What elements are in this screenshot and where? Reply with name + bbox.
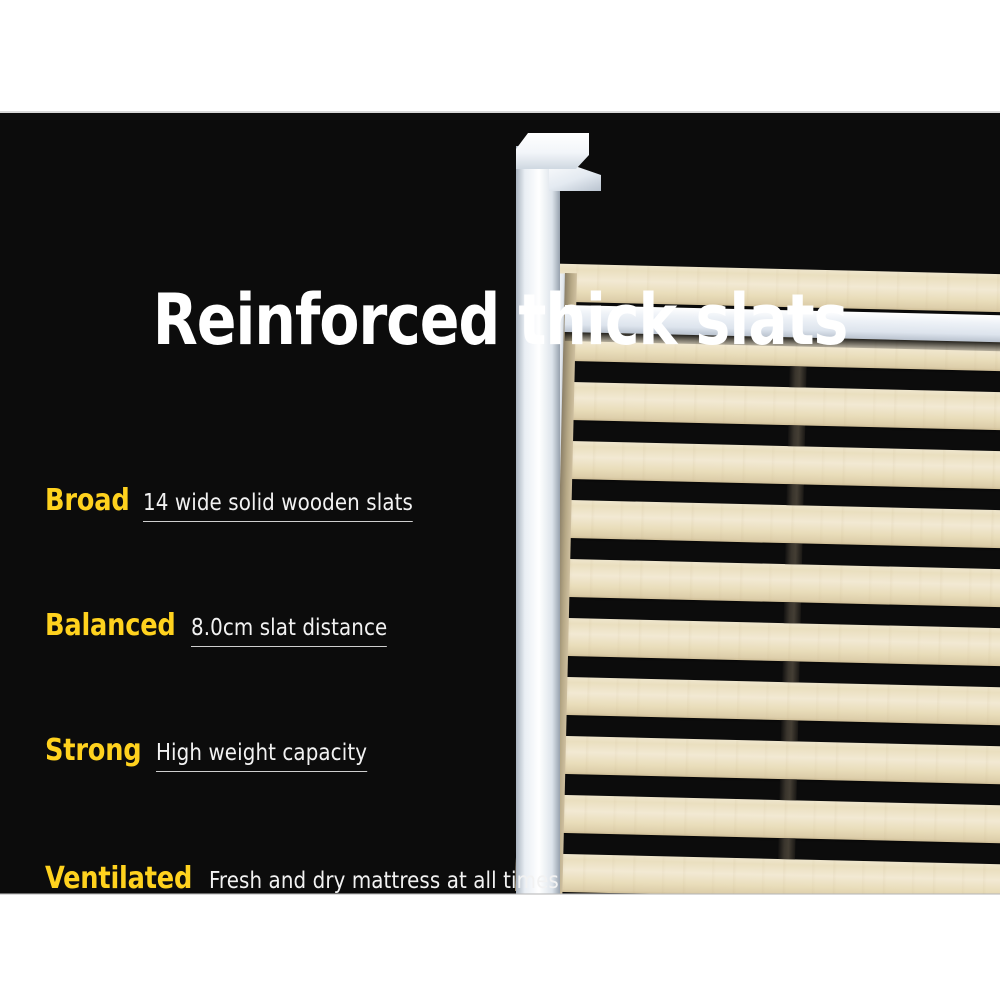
slat-webbing-strap: [786, 484, 803, 505]
feature-value-balanced: 8.0cm slat distance: [191, 615, 387, 647]
wooden-slat: [521, 617, 1000, 668]
wooden-slat: [517, 794, 1000, 845]
feature-row-ventilated: Ventilated Fresh and dry mattress at all…: [45, 861, 573, 894]
banner-bottom-edge: [0, 893, 1000, 895]
feature-key-broad: Broad: [45, 483, 130, 518]
slat-webbing-strap: [781, 720, 798, 741]
slat-webbing-strap: [784, 602, 801, 623]
feature-value-strong: High weight capacity: [156, 740, 367, 772]
feature-row-balanced: Balanced 8.0cm slat distance: [45, 608, 396, 647]
feature-key-ventilated: Ventilated: [45, 861, 192, 894]
wooden-slat: [525, 440, 1000, 491]
page-canvas: Reinforced thick slats Broad 14 wide sol…: [0, 0, 1000, 1000]
slat-webbing-strap: [785, 543, 802, 564]
feature-row-broad: Broad 14 wide solid wooden slats: [45, 483, 424, 522]
feature-value-ventilated: Fresh and dry mattress at all times: [209, 868, 559, 894]
wooden-slat: [522, 558, 1000, 609]
feature-row-strong: Strong High weight capacity: [45, 733, 375, 772]
wooden-slat: [515, 853, 1000, 894]
feature-value-broad: 14 wide solid wooden slats: [143, 490, 413, 522]
wooden-slat: [524, 499, 1000, 550]
slat-webbing-strap: [789, 366, 806, 387]
bed-photo-stage: [505, 113, 1000, 894]
page-title: Reinforced thick slats: [35, 285, 965, 355]
promo-banner: Reinforced thick slats Broad 14 wide sol…: [0, 113, 1000, 894]
feature-key-strong: Strong: [45, 733, 141, 768]
feature-key-balanced: Balanced: [45, 608, 176, 643]
wooden-slat: [518, 735, 1000, 786]
slat-webbing-strap: [788, 425, 805, 446]
bed-corner-post: [516, 146, 560, 894]
product-photo-bed-slats: [505, 113, 1000, 894]
wooden-slat: [519, 676, 1000, 727]
wooden-slat: [526, 381, 1000, 432]
slat-webbing-strap: [778, 838, 795, 859]
slat-webbing-strap: [779, 779, 796, 800]
bed-post-cap: [516, 133, 589, 169]
slat-webbing-strap: [782, 661, 799, 682]
